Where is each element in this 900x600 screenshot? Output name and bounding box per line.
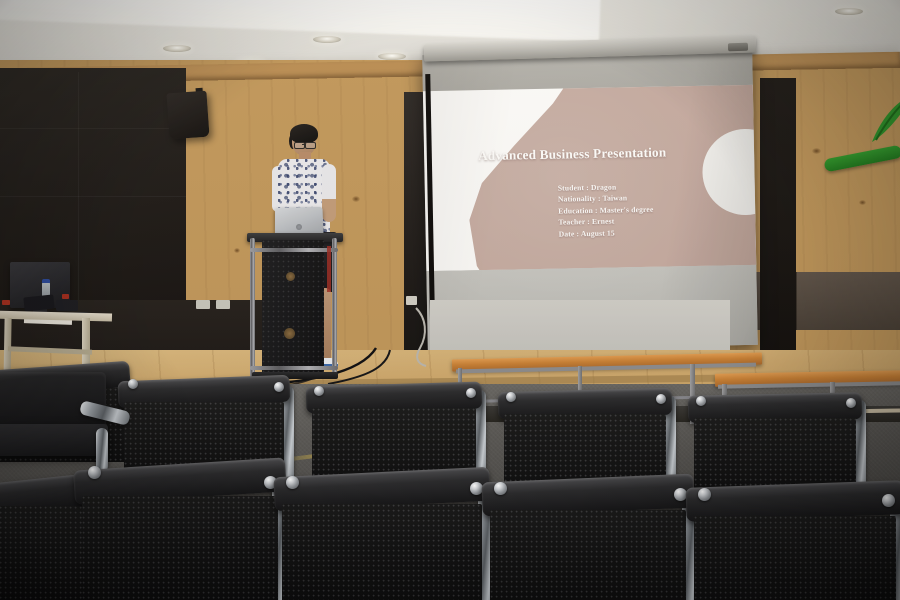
presenter-right-arm <box>322 164 336 222</box>
seat-backrest <box>0 372 106 428</box>
seat-back-mesh <box>694 516 896 600</box>
podium-frame-rail <box>332 238 337 378</box>
seat-back-mesh <box>490 510 686 600</box>
water-bottle-cap <box>42 279 50 283</box>
wood-knot <box>352 196 360 202</box>
seat-cushion <box>0 424 108 456</box>
panel-seam <box>0 196 186 197</box>
wood-knot <box>812 148 821 154</box>
auditorium-seat-front[interactable] <box>74 462 292 600</box>
wood-knot <box>859 200 866 205</box>
podium-frame-crossbar <box>250 248 338 252</box>
downlight-icon <box>163 45 191 52</box>
laptop-logo-icon <box>296 224 302 230</box>
seat-chrome-knob <box>286 476 299 489</box>
downlight-icon <box>378 53 406 60</box>
seat-chrome-knob <box>506 392 516 402</box>
dark-panel-right <box>760 78 796 378</box>
podium-frame-rail <box>250 238 255 378</box>
seat-chrome-knob <box>314 386 324 396</box>
control-indicator-light <box>2 300 10 305</box>
screen-housing-endcap <box>728 43 748 52</box>
presenter-glasses-bridge <box>302 144 306 145</box>
slide-detail-education: Education : Master's degree <box>558 204 653 217</box>
auditorium-seat-front[interactable] <box>686 482 900 600</box>
seat-chrome-knob <box>656 394 666 404</box>
seat-chrome-knob <box>466 388 476 398</box>
seat-chrome-knob <box>882 494 895 507</box>
seat-chrome-knob <box>698 488 711 501</box>
auditorium-seat-front[interactable] <box>274 470 498 600</box>
podium-frame-crossbar <box>250 366 338 370</box>
podium-port-hole <box>284 328 295 339</box>
presenter-hair <box>290 124 318 143</box>
wall-outlet[interactable] <box>406 296 417 305</box>
podium-perforation-texture <box>262 240 324 378</box>
wall-outlet-cable <box>404 300 444 370</box>
seat-chrome-knob <box>696 396 706 406</box>
seat-chrome-knob <box>274 382 284 392</box>
podium-port-hole <box>286 272 295 281</box>
seat-back-mesh <box>282 504 482 600</box>
seat-chrome-knob <box>128 379 138 389</box>
wall-outlet[interactable] <box>196 300 210 309</box>
wall-speaker <box>166 91 209 140</box>
seat-chrome-knob <box>494 482 507 495</box>
podium-red-strap <box>327 246 331 292</box>
slide-detail-date: Date : August 15 <box>559 226 654 239</box>
presentation-slide: Advanced Business Presentation Student :… <box>423 85 756 271</box>
downlight-icon <box>835 8 863 15</box>
control-indicator-light <box>62 294 69 299</box>
panel-seam <box>78 72 79 312</box>
seat-chrome-knob <box>88 466 101 479</box>
downlight-icon <box>313 36 341 43</box>
wall-outlet[interactable] <box>216 300 230 309</box>
auditorium-seat-front[interactable] <box>482 476 702 600</box>
auditorium-presentation-photo: Advanced Business Presentation Student :… <box>0 0 900 600</box>
seat-back-mesh <box>82 496 278 600</box>
presenter-glasses-right-lens <box>305 142 316 149</box>
slide-details: Student : Dragon Nationality : Taiwan Ed… <box>558 181 654 240</box>
panel-seam <box>0 128 186 129</box>
wood-knot <box>234 248 240 253</box>
control-equipment <box>56 300 78 311</box>
seat-chrome-knob <box>846 398 856 408</box>
